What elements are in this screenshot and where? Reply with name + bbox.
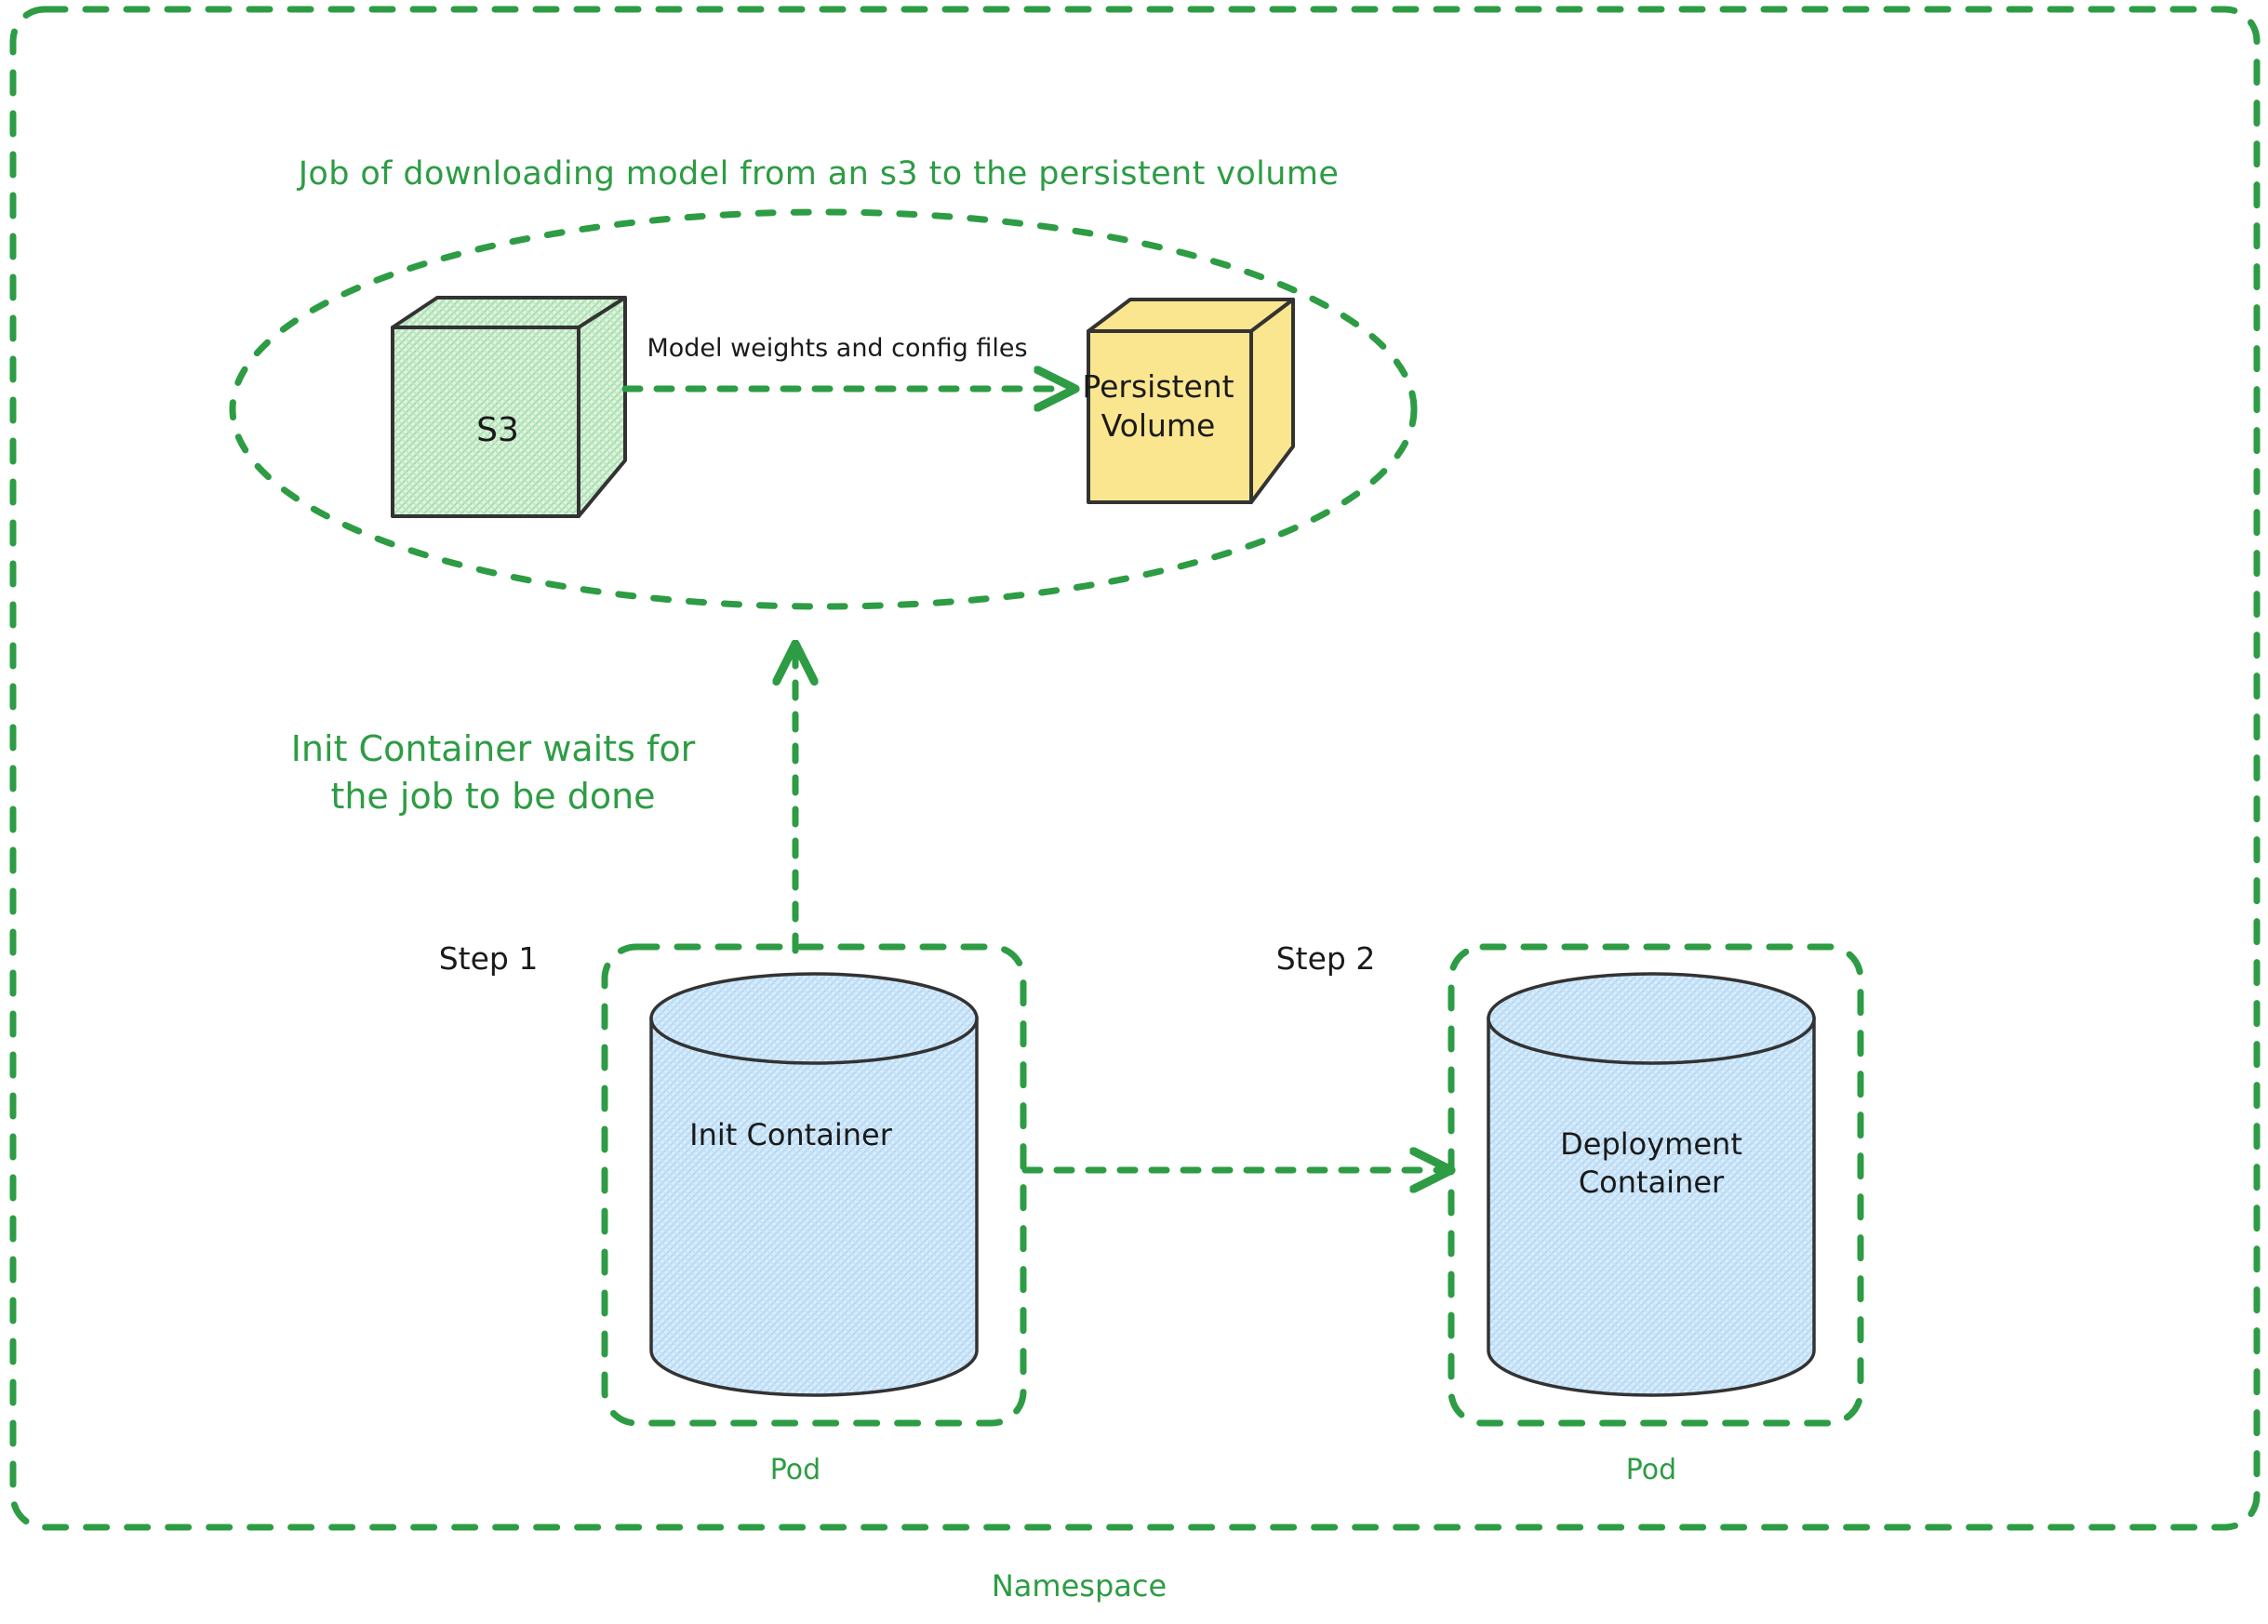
persistent-volume-cube: [1088, 300, 1293, 502]
init-container-cylinder: [651, 974, 977, 1395]
diagram-canvas: Job of downloading model from an s3 to t…: [0, 0, 2268, 1624]
diagram-svg: [0, 0, 2268, 1624]
namespace-boundary: [13, 9, 2257, 1527]
s3-cube: [393, 298, 625, 516]
deployment-container-cylinder: [1488, 974, 1814, 1395]
